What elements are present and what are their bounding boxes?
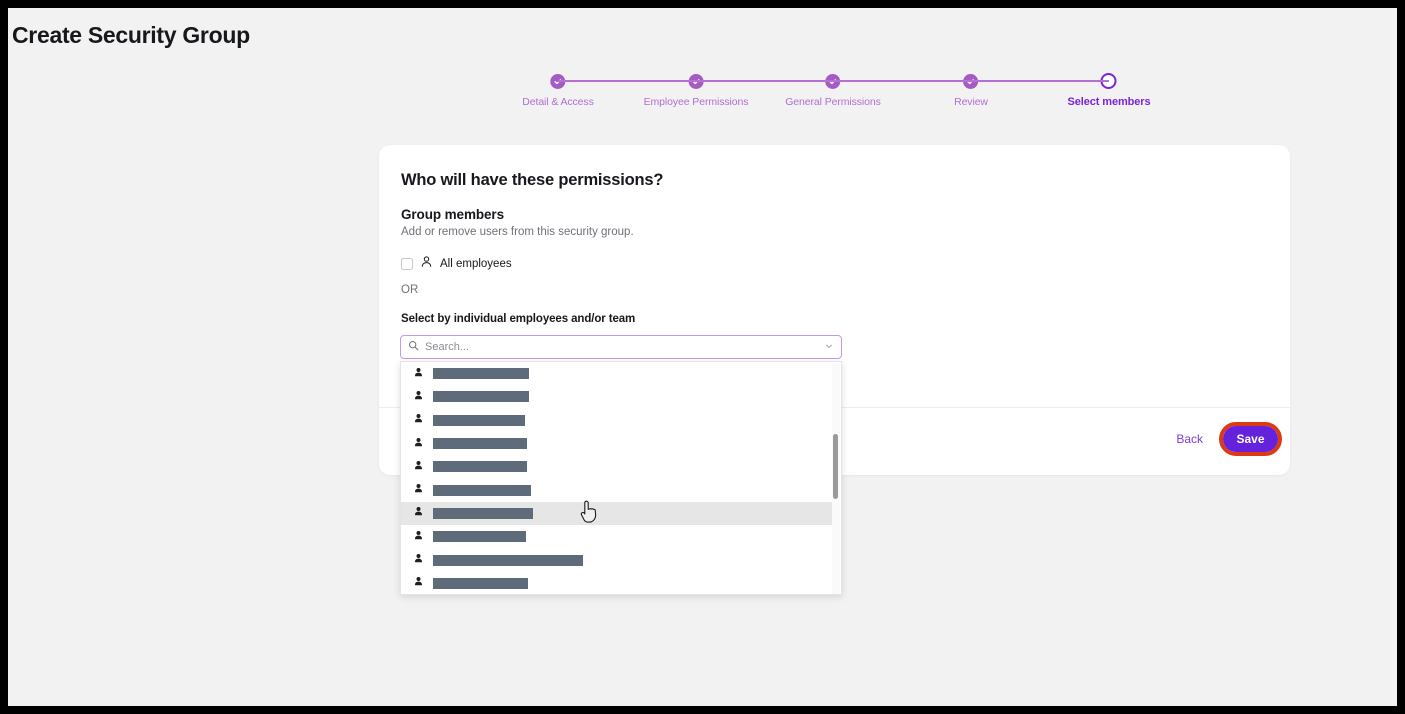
stepper-connector xyxy=(558,80,696,82)
select-by-individual-label: Select by individual employees and/or te… xyxy=(401,313,635,325)
redacted-member-name xyxy=(433,391,529,402)
dropdown-list-item[interactable] xyxy=(401,502,834,525)
dropdown-list-item[interactable] xyxy=(401,409,834,432)
member-dropdown[interactable] xyxy=(400,361,842,595)
stepper-step-review[interactable]: Review xyxy=(954,70,988,108)
dropdown-scrollbar-track[interactable] xyxy=(832,363,840,595)
stepper-step-label: Select members xyxy=(1068,96,1151,108)
dropdown-list-item[interactable] xyxy=(401,548,834,571)
dropdown-list-item[interactable] xyxy=(401,385,834,408)
all-employees-label: All employees xyxy=(440,258,512,270)
stepper-step-general-permissions[interactable]: General Permissions xyxy=(785,70,881,108)
person-icon xyxy=(413,458,424,476)
redacted-member-name xyxy=(433,578,528,589)
redacted-member-name xyxy=(433,368,529,379)
all-employees-row[interactable]: All employees xyxy=(401,255,512,273)
redacted-member-name xyxy=(433,531,526,542)
dropdown-list-item[interactable] xyxy=(401,455,834,478)
dropdown-list-item[interactable] xyxy=(401,432,834,455)
or-separator-text: OR xyxy=(401,284,418,296)
stepper-step-select-members[interactable]: Select members xyxy=(1068,70,1151,108)
person-icon xyxy=(420,255,433,273)
redacted-member-name xyxy=(433,485,531,496)
save-button[interactable]: Save xyxy=(1223,426,1278,452)
section-title: Group members xyxy=(401,207,504,222)
redacted-member-name xyxy=(433,555,583,566)
person-icon xyxy=(413,388,424,406)
redacted-member-name xyxy=(433,508,533,519)
save-button-wrapper: Save xyxy=(1219,422,1282,456)
stepper-connector xyxy=(971,80,1109,82)
redacted-member-name xyxy=(433,438,527,449)
back-button[interactable]: Back xyxy=(1176,432,1203,446)
person-icon xyxy=(413,528,424,546)
stepper-step-label: Employee Permissions xyxy=(644,96,749,108)
stepper-step-label: Detail & Access xyxy=(522,96,593,108)
page-surface: Create Security Group Detail & AccessEmp… xyxy=(8,8,1397,706)
redacted-member-name xyxy=(433,461,527,472)
member-dropdown-list xyxy=(401,362,834,595)
dropdown-list-item[interactable] xyxy=(401,478,834,501)
chevron-down-icon[interactable] xyxy=(824,338,834,356)
person-icon xyxy=(413,411,424,429)
person-icon xyxy=(413,551,424,569)
person-icon xyxy=(413,435,424,453)
screenshot-frame: Create Security Group Detail & AccessEmp… xyxy=(0,0,1405,714)
dropdown-list-item[interactable] xyxy=(401,362,834,385)
person-icon xyxy=(413,365,424,383)
search-input[interactable]: Search... xyxy=(425,341,824,353)
dropdown-list-item[interactable] xyxy=(401,572,834,595)
stepper-step-employee-permissions[interactable]: Employee Permissions xyxy=(644,70,749,108)
stepper-connector xyxy=(833,80,971,82)
stepper-connector xyxy=(696,80,833,82)
stepper-step-detail-access[interactable]: Detail & Access xyxy=(522,70,593,108)
person-icon xyxy=(413,504,424,522)
member-search-field[interactable]: Search... xyxy=(400,335,842,359)
all-employees-checkbox[interactable] xyxy=(401,258,413,270)
dropdown-list-item[interactable] xyxy=(401,525,834,548)
person-icon xyxy=(413,574,424,592)
search-icon xyxy=(408,338,419,356)
person-icon xyxy=(413,481,424,499)
progress-stepper: Detail & AccessEmployee PermissionsGener… xyxy=(8,70,1397,130)
section-description: Add or remove users from this security g… xyxy=(401,226,634,238)
page-title: Create Security Group xyxy=(12,22,250,49)
redacted-member-name xyxy=(433,415,525,426)
card-heading: Who will have these permissions? xyxy=(401,171,663,190)
stepper-step-label: Review xyxy=(954,96,988,108)
dropdown-scrollbar-thumb[interactable] xyxy=(833,434,838,499)
stepper-step-label: General Permissions xyxy=(785,96,881,108)
